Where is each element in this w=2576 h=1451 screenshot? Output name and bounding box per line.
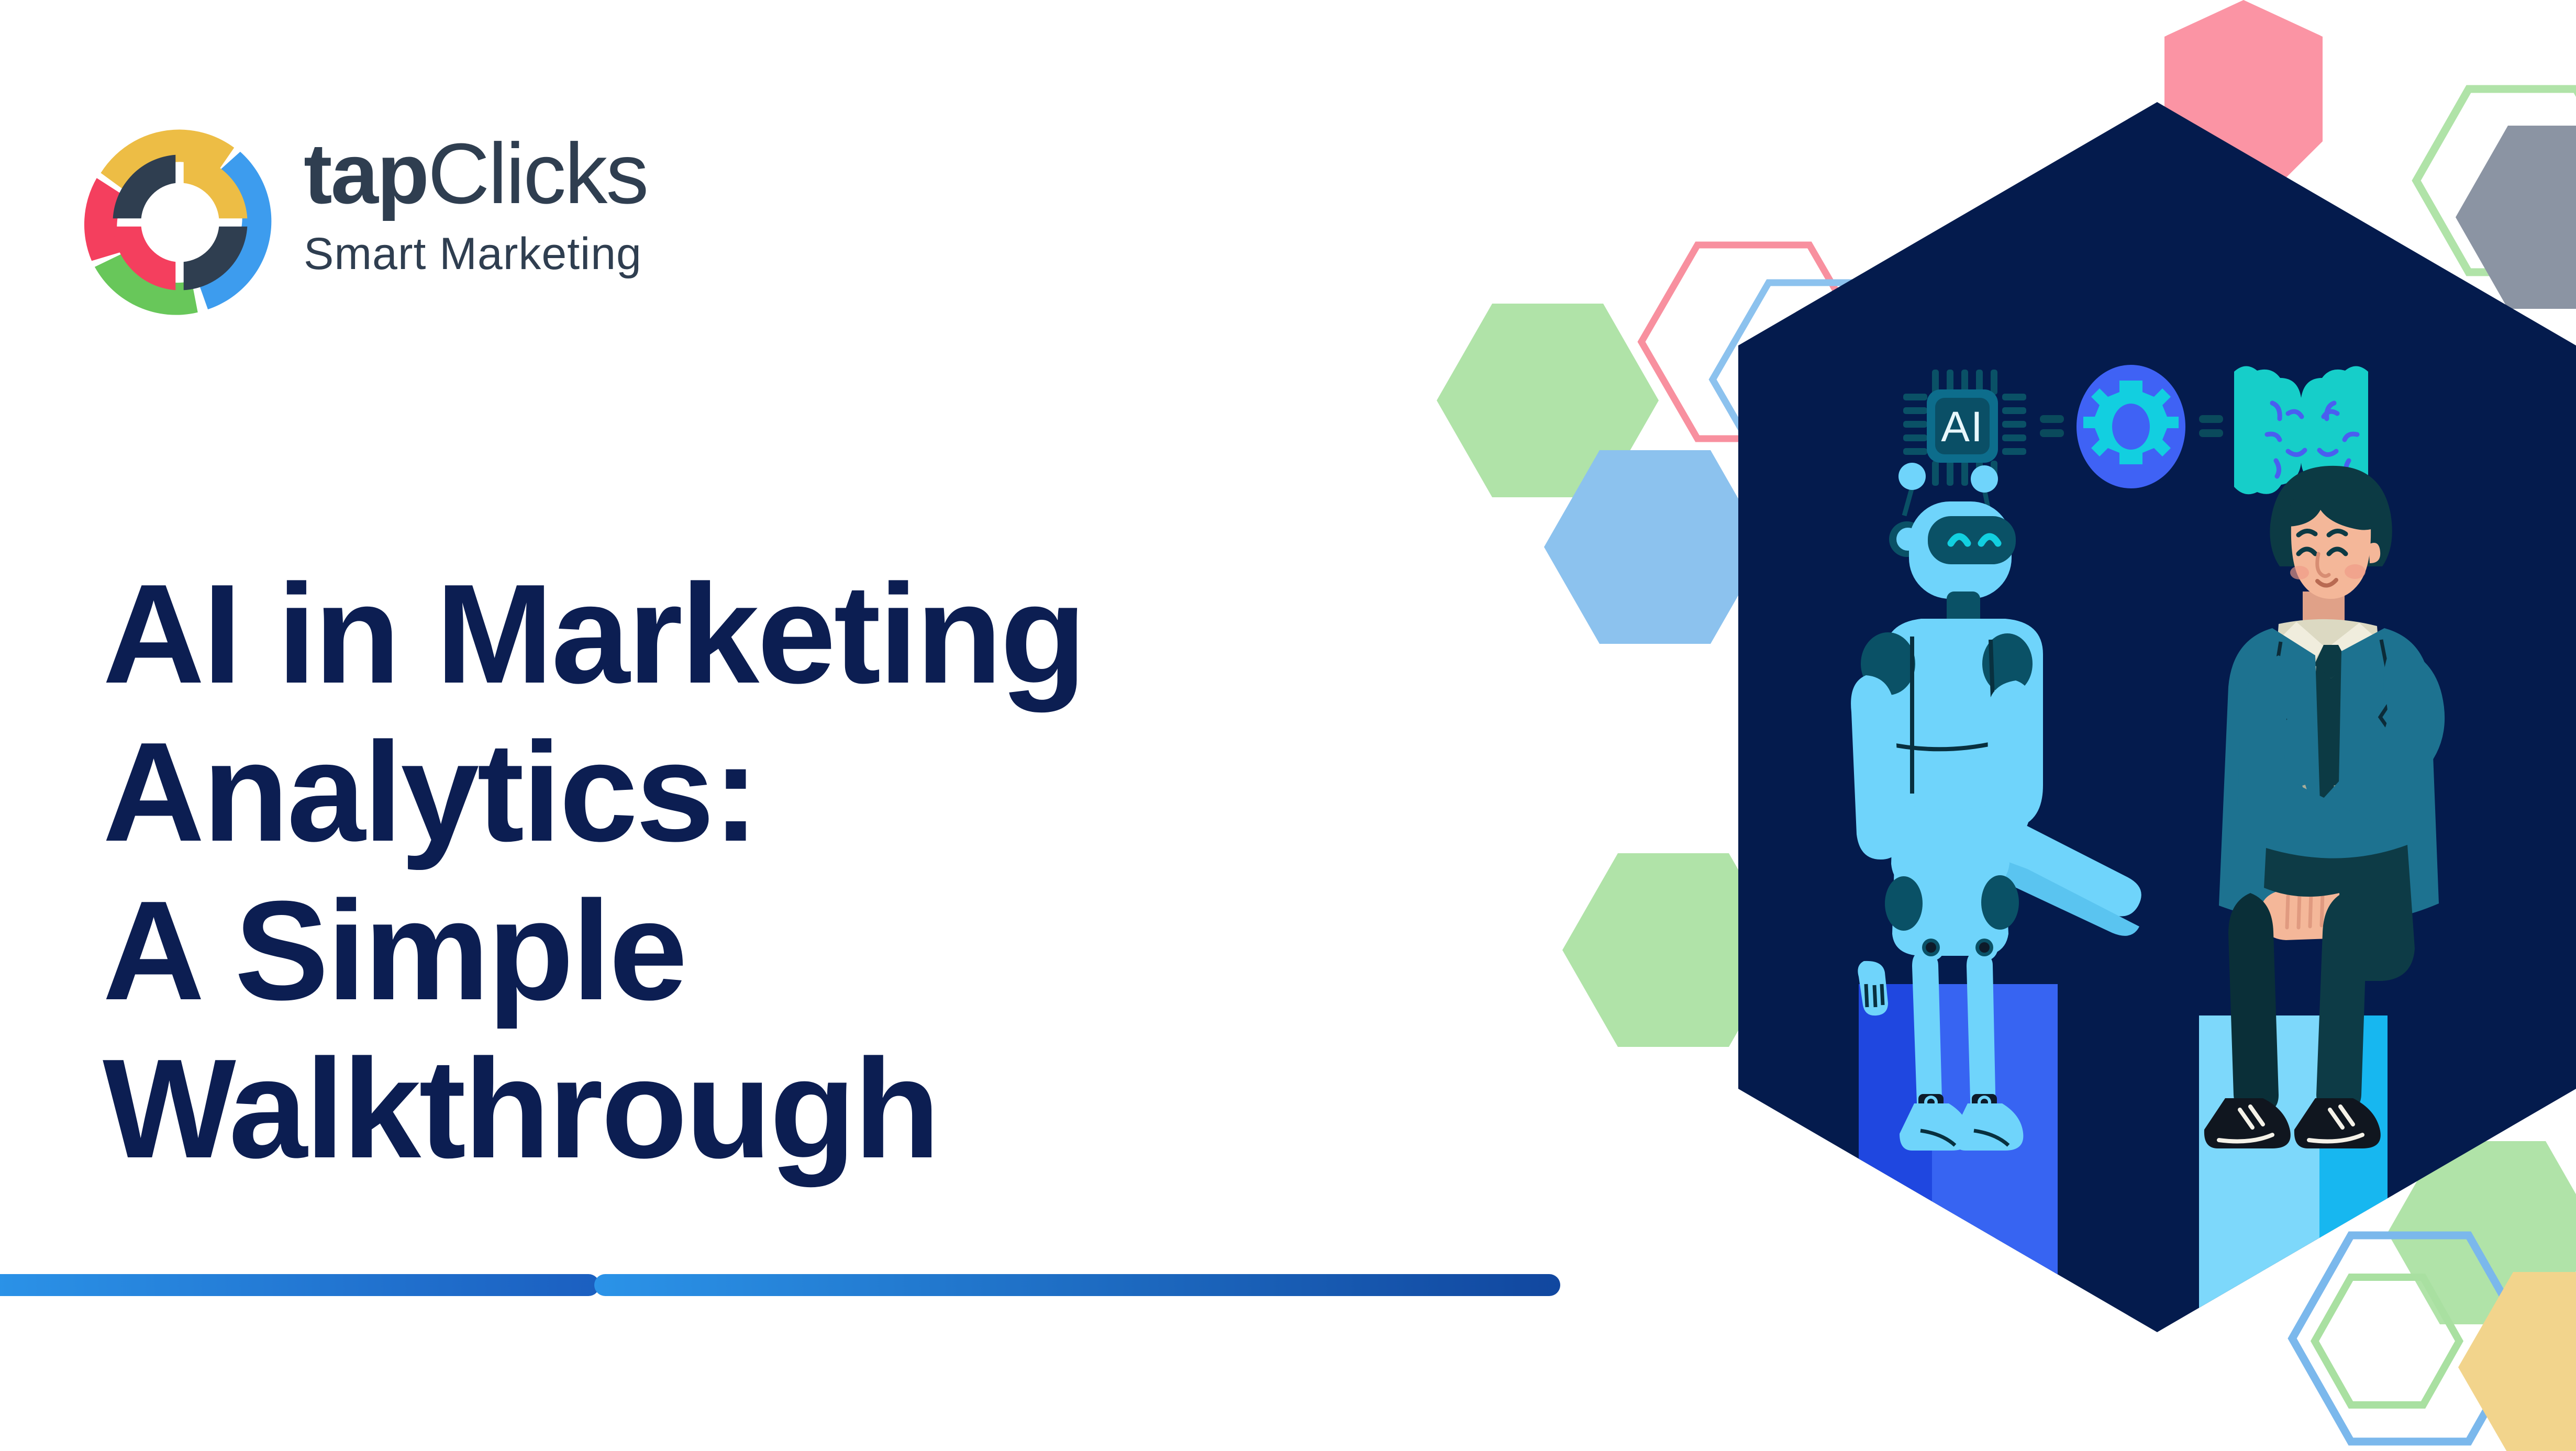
ai-chip-label: AI xyxy=(1941,403,1983,451)
slide-canvas: AI xyxy=(0,0,2576,1451)
robot-seat-box-light xyxy=(1932,984,2058,1330)
title-line-4: Walkthrough xyxy=(103,1030,1516,1188)
title-line-3: A Simple xyxy=(103,872,1516,1030)
divider-segment-1 xyxy=(0,1274,599,1296)
brand-wordmark: tapClicks Smart Marketing xyxy=(304,133,647,280)
title-line-1: AI in Marketing xyxy=(103,555,1516,713)
page-title: AI in Marketing Analytics: A Simple Walk… xyxy=(103,555,1516,1189)
brand-name-tap: tap xyxy=(304,126,428,221)
brand-tagline: Smart Marketing xyxy=(304,228,647,280)
divider-segment-2 xyxy=(594,1274,1560,1296)
brand-logo[interactable]: tapClicks Smart Marketing xyxy=(79,121,647,323)
tapclicks-donut-logo-icon xyxy=(79,121,281,323)
title-line-2: Analytics: xyxy=(103,713,1516,872)
hero-illustration: AI xyxy=(1518,0,2576,1451)
brand-name-clicks: Clicks xyxy=(428,126,647,221)
gear-icon xyxy=(2077,365,2185,488)
divider xyxy=(0,1274,1560,1296)
